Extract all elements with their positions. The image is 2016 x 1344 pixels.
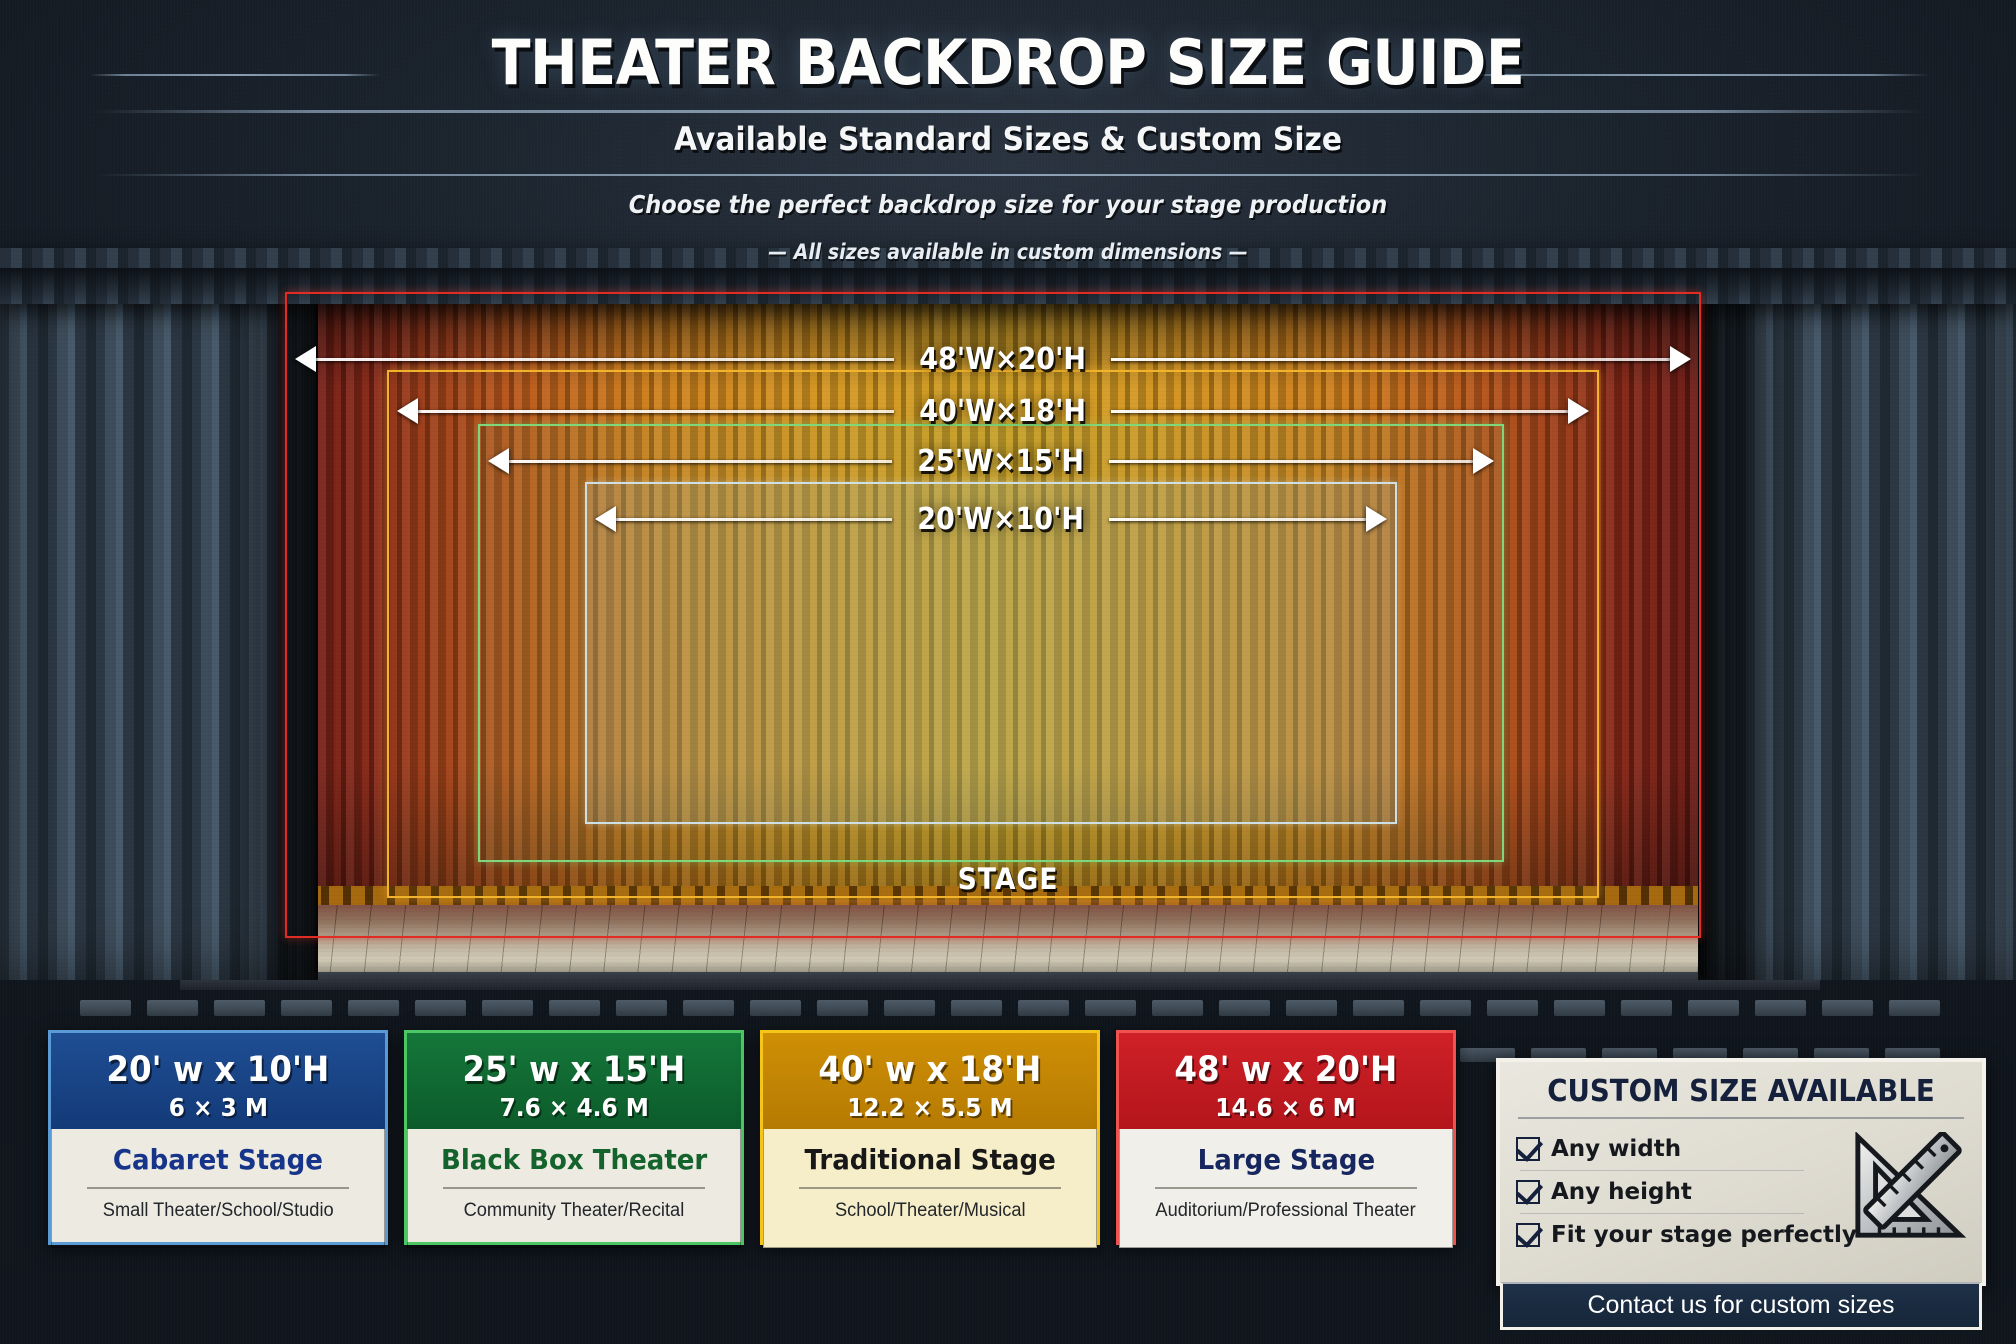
dimension-label: 48'W×20'H (905, 342, 1100, 377)
stage-label: STAGE (81, 862, 1936, 896)
arrow-left-icon (595, 506, 616, 532)
contact-label: Contact us for custom sizes (1587, 1291, 1894, 1320)
dimension-row-48x20: 48'W×20'H (295, 340, 1691, 378)
card-feet-size: 25' w x 15'H (463, 1050, 686, 1090)
feature-divider (1520, 1213, 1804, 1214)
card-stage-name: Large Stage (1197, 1143, 1374, 1176)
card-usage: School/Theater/Musical (835, 1200, 1026, 1222)
custom-size-panel[interactable]: CUSTOM SIZE AVAILABLE Any width Any heig… (1496, 1058, 1986, 1286)
card-feet-size: 48' w x 20'H (1175, 1050, 1398, 1090)
feature-label: Any width (1551, 1136, 1681, 1162)
size-card-large[interactable]: 48' w x 20'H 14.6 × 6 M Large Stage Audi… (1116, 1030, 1456, 1245)
page-subtitle: Available Standard Sizes & Custom Size (71, 120, 1946, 158)
custom-panel-title: CUSTOM SIZE AVAILABLE (1534, 1074, 1948, 1109)
card-body: Large Stage Auditorium/Professional Thea… (1119, 1129, 1453, 1248)
card-feet-size: 40' w x 18'H (819, 1050, 1042, 1090)
arrow-left-icon (397, 398, 418, 424)
infographic-root: 48'W×20'H 40'W×18'H 25'W×15'H 20'W×10'H … (0, 0, 2016, 1344)
card-stage-name: Black Box Theater (441, 1143, 707, 1176)
card-usage: Auditorium/Professional Theater (1156, 1200, 1416, 1222)
card-divider (1155, 1187, 1417, 1189)
arrow-left-icon (295, 346, 316, 372)
card-body: Black Box Theater Community Theater/Reci… (407, 1129, 741, 1248)
card-divider (87, 1187, 349, 1189)
dimension-row-20x10: 20'W×10'H (595, 500, 1387, 538)
card-usage: Community Theater/Recital (464, 1200, 685, 1222)
check-icon (1516, 1223, 1540, 1247)
card-body: Traditional Stage School/Theater/Musical (763, 1129, 1097, 1248)
card-stage-name: Traditional Stage (804, 1143, 1055, 1176)
arrow-right-icon (1568, 398, 1589, 424)
card-usage: Small Theater/School/Studio (103, 1200, 334, 1222)
custom-panel-divider (1518, 1117, 1964, 1119)
card-header: 48' w x 20'H 14.6 × 6 M (1119, 1033, 1453, 1129)
dimension-label: 25'W×15'H (903, 444, 1098, 479)
dimension-row-25x15: 25'W×15'H (488, 442, 1494, 480)
arrow-left-icon (488, 448, 509, 474)
ruler-square-icon (1850, 1132, 1968, 1244)
size-card-black-box[interactable]: 25' w x 15'H 7.6 × 4.6 M Black Box Theat… (404, 1030, 744, 1245)
arrow-right-icon (1473, 448, 1494, 474)
feature-label: Any height (1551, 1179, 1692, 1205)
dimension-label: 20'W×10'H (903, 502, 1098, 537)
header-rule-bottom (95, 174, 1925, 176)
card-meter-size: 12.2 × 5.5 M (847, 1093, 1012, 1122)
feature-label: Fit your stage perfectly (1551, 1222, 1857, 1248)
header-rule-middle (95, 110, 1925, 113)
card-meter-size: 14.6 × 6 M (1216, 1093, 1356, 1122)
card-stage-name: Cabaret Stage (113, 1143, 323, 1176)
check-icon (1516, 1137, 1540, 1161)
size-card-traditional[interactable]: 40' w x 18'H 12.2 × 5.5 M Traditional St… (760, 1030, 1100, 1245)
stage-floor-edge (180, 972, 1820, 990)
card-meter-size: 6 × 3 M (168, 1093, 267, 1122)
custom-dim-note: — All sizes available in custom dimensio… (101, 240, 1915, 264)
dimension-row-40x18: 40'W×18'H (397, 392, 1589, 430)
card-meter-size: 7.6 × 4.6 M (499, 1093, 648, 1122)
arrow-right-icon (1366, 506, 1387, 532)
card-feet-size: 20' w x 10'H (107, 1050, 330, 1090)
page-tagline: Choose the perfect backdrop size for you… (101, 190, 1915, 219)
feature-divider (1520, 1170, 1804, 1171)
house-light-strip (80, 1000, 1940, 1016)
page-title: THEATER BACKDROP SIZE GUIDE (81, 26, 1936, 99)
card-header: 40' w x 18'H 12.2 × 5.5 M (763, 1033, 1097, 1129)
card-divider (443, 1187, 705, 1189)
size-card-cabaret[interactable]: 20' w x 10'H 6 × 3 M Cabaret Stage Small… (48, 1030, 388, 1245)
dimension-label: 40'W×18'H (905, 394, 1100, 429)
contact-bar[interactable]: Contact us for custom sizes (1500, 1282, 1982, 1330)
arrow-right-icon (1670, 346, 1691, 372)
card-divider (799, 1187, 1061, 1189)
card-header: 25' w x 15'H 7.6 × 4.6 M (407, 1033, 741, 1129)
header: THEATER BACKDROP SIZE GUIDE Available St… (0, 0, 2016, 272)
card-body: Cabaret Stage Small Theater/School/Studi… (51, 1129, 385, 1248)
card-header: 20' w x 10'H 6 × 3 M (51, 1033, 385, 1129)
check-icon (1516, 1180, 1540, 1204)
